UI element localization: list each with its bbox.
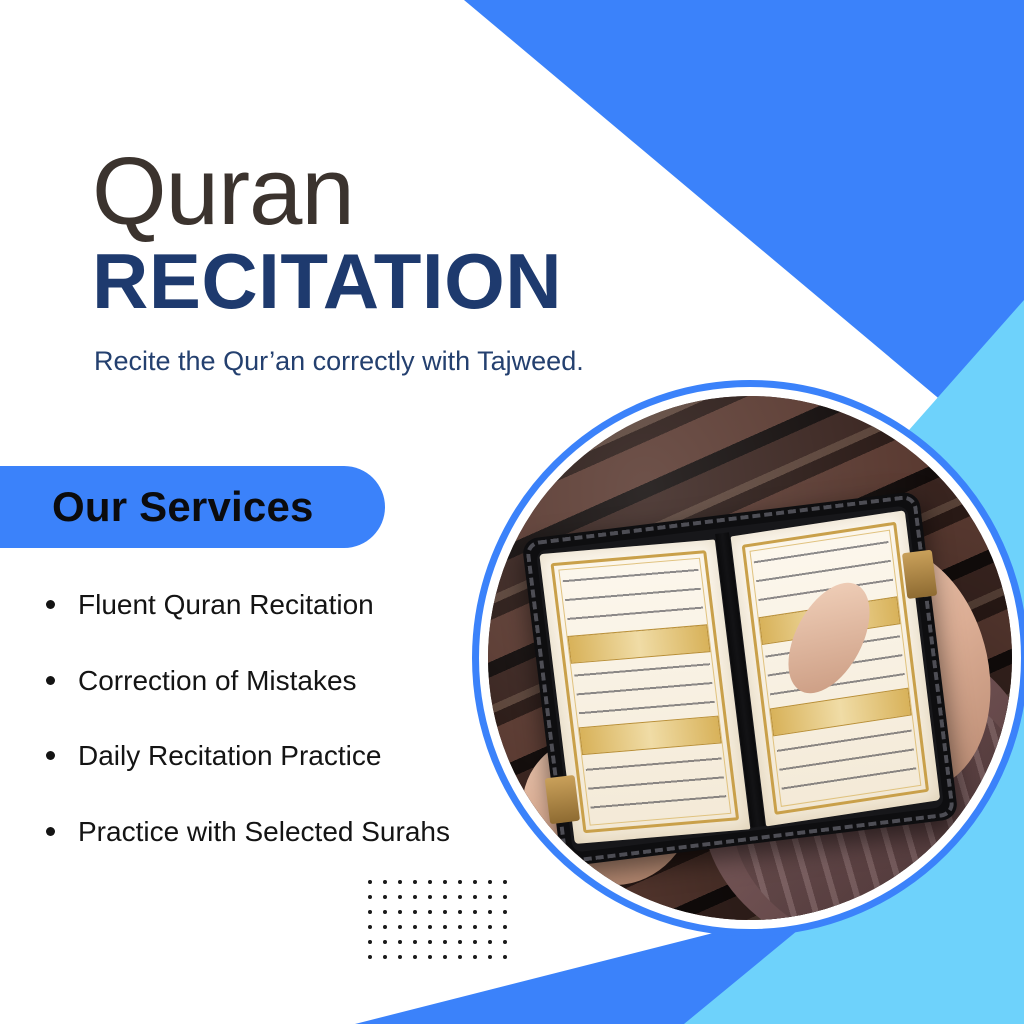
gold-tab: [902, 550, 937, 599]
dot: [398, 910, 402, 914]
dot: [413, 955, 417, 959]
dot: [413, 925, 417, 929]
dot: [443, 895, 447, 899]
dot: [413, 910, 417, 914]
dot: [488, 940, 492, 944]
dot: [458, 940, 462, 944]
poster-canvas: Quran RECITATION Recite the Qur’an corre…: [0, 0, 1024, 1024]
list-item-label: Daily Recitation Practice: [78, 740, 381, 771]
list-item-label: Practice with Selected Surahs: [78, 816, 450, 847]
bullet-dot-icon: [46, 751, 55, 760]
dot: [413, 880, 417, 884]
dot: [458, 925, 462, 929]
dot: [368, 910, 372, 914]
dot: [368, 895, 372, 899]
dot: [503, 940, 507, 944]
dot: [383, 910, 387, 914]
dot: [383, 955, 387, 959]
dot: [443, 925, 447, 929]
dot: [368, 880, 372, 884]
page-subtitle: Recite the Qur’an correctly with Tajweed…: [94, 342, 604, 381]
dot: [473, 895, 477, 899]
dot: [458, 955, 462, 959]
list-item: Practice with Selected Surahs: [44, 815, 564, 849]
dot: [413, 895, 417, 899]
heading-block: Quran RECITATION Recite the Qur’an corre…: [92, 148, 712, 381]
quran-photo: [488, 396, 1012, 920]
dot: [488, 955, 492, 959]
page-title-script: Quran: [92, 148, 712, 236]
dot: [458, 910, 462, 914]
dot: [398, 880, 402, 884]
dot: [458, 895, 462, 899]
bullet-dot-icon: [46, 676, 55, 685]
dot: [473, 910, 477, 914]
quran-zip-case: [521, 491, 958, 867]
dot: [383, 940, 387, 944]
dot: [428, 910, 432, 914]
dot: [458, 880, 462, 884]
dot: [383, 895, 387, 899]
dot: [398, 955, 402, 959]
page-title-bold: RECITATION: [92, 242, 712, 320]
dot: [473, 925, 477, 929]
dot: [443, 940, 447, 944]
list-item-label: Correction of Mistakes: [78, 665, 357, 696]
list-item-label: Fluent Quran Recitation: [78, 589, 374, 620]
bullet-dot-icon: [46, 827, 55, 836]
dot: [443, 880, 447, 884]
dot: [368, 940, 372, 944]
dot: [428, 955, 432, 959]
dot: [428, 880, 432, 884]
dot: [413, 940, 417, 944]
dot: [473, 940, 477, 944]
dot: [428, 925, 432, 929]
dot: [398, 925, 402, 929]
gold-tab: [545, 775, 580, 824]
dot: [383, 925, 387, 929]
services-heading-pill: Our Services: [0, 466, 385, 548]
dot: [488, 925, 492, 929]
dot: [368, 955, 372, 959]
dot: [473, 955, 477, 959]
dot: [503, 955, 507, 959]
dot: [368, 925, 372, 929]
dot: [503, 925, 507, 929]
dot: [473, 880, 477, 884]
services-heading-label: Our Services: [52, 483, 314, 531]
photo-scene: [488, 396, 1012, 920]
dot: [428, 940, 432, 944]
dot: [428, 895, 432, 899]
bullet-dot-icon: [46, 600, 55, 609]
dot: [443, 910, 447, 914]
dot: [383, 880, 387, 884]
circular-photo-frame: [472, 380, 1024, 936]
dot: [398, 940, 402, 944]
dot: [398, 895, 402, 899]
dot: [443, 955, 447, 959]
